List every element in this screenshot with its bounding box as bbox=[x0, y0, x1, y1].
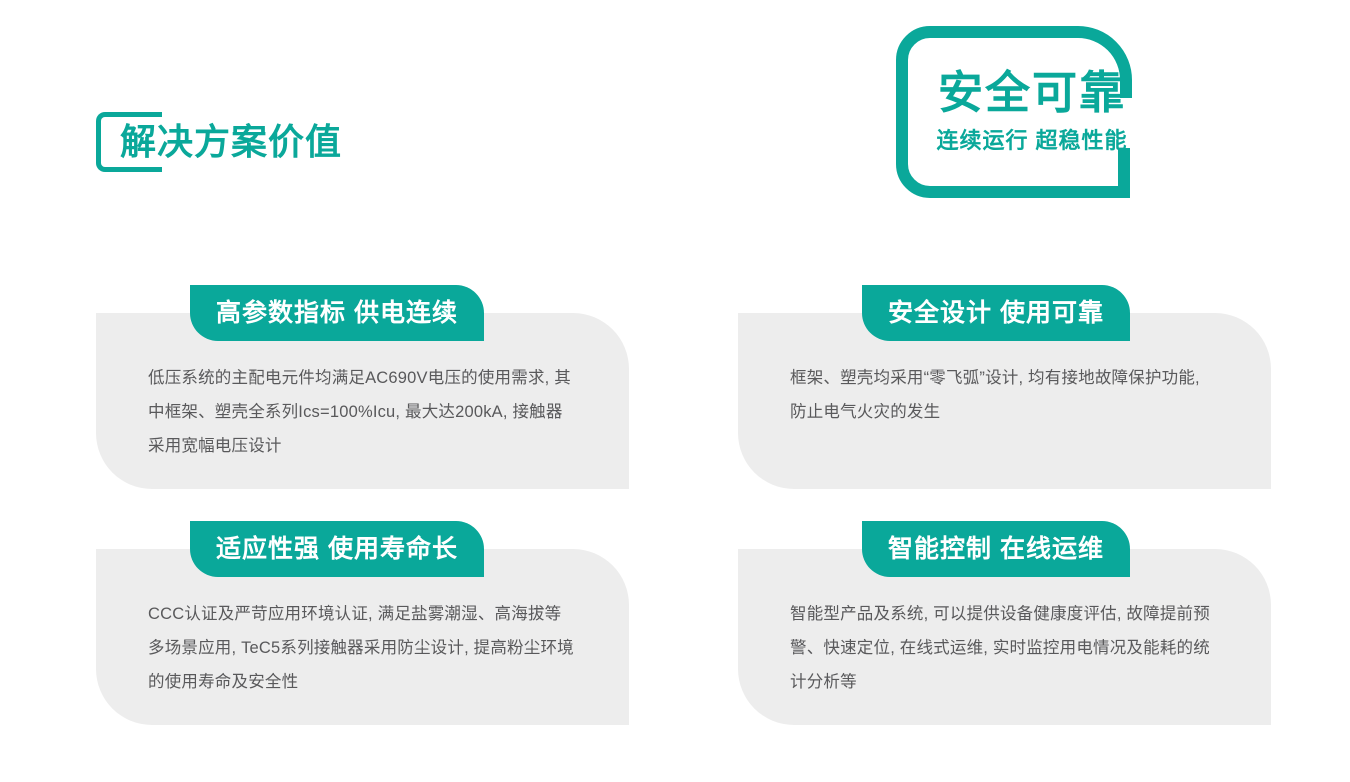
feature-card: 高参数指标 供电连续 低压系统的主配电元件均满足AC690V电压的使用需求, 其… bbox=[96, 313, 629, 489]
page-title: 解决方案价值 bbox=[120, 118, 342, 166]
feature-card: 适应性强 使用寿命长 CCC认证及严苛应用环境认证, 满足盐雾潮湿、高海拔等多场… bbox=[96, 549, 629, 725]
page-title-block: 解决方案价值 bbox=[96, 112, 496, 184]
feature-card-header: 智能控制 在线运维 bbox=[862, 521, 1130, 577]
feature-card-title: 安全设计 使用可靠 bbox=[888, 298, 1104, 328]
feature-card-header: 适应性强 使用寿命长 bbox=[190, 521, 484, 577]
logo-mark: 安全可靠 连续运行 超稳性能 bbox=[896, 26, 1168, 198]
feature-card: 安全设计 使用可靠 框架、塑壳均采用“零飞弧”设计, 均有接地故障保护功能, 防… bbox=[738, 313, 1271, 489]
feature-card: 智能控制 在线运维 智能型产品及系统, 可以提供设备健康度评估, 故障提前预警、… bbox=[738, 549, 1271, 725]
feature-card-body: 智能型产品及系统, 可以提供设备健康度评估, 故障提前预警、快速定位, 在线式运… bbox=[790, 597, 1220, 699]
logo-title: 安全可靠 bbox=[896, 66, 1168, 120]
feature-card-header: 安全设计 使用可靠 bbox=[862, 285, 1130, 341]
feature-card-header: 高参数指标 供电连续 bbox=[190, 285, 484, 341]
feature-card-body: 框架、塑壳均采用“零飞弧”设计, 均有接地故障保护功能, 防止电气火灾的发生 bbox=[790, 361, 1220, 429]
feature-card-body: 低压系统的主配电元件均满足AC690V电压的使用需求, 其中框架、塑壳全系列Ic… bbox=[148, 361, 578, 463]
feature-card-title: 适应性强 使用寿命长 bbox=[216, 534, 458, 564]
feature-card-body: CCC认证及严苛应用环境认证, 满足盐雾潮湿、高海拔等多场景应用, TeC5系列… bbox=[148, 597, 578, 699]
feature-card-title: 高参数指标 供电连续 bbox=[216, 298, 458, 328]
logo-subtitle: 连续运行 超稳性能 bbox=[896, 126, 1168, 156]
feature-card-title: 智能控制 在线运维 bbox=[888, 534, 1104, 564]
